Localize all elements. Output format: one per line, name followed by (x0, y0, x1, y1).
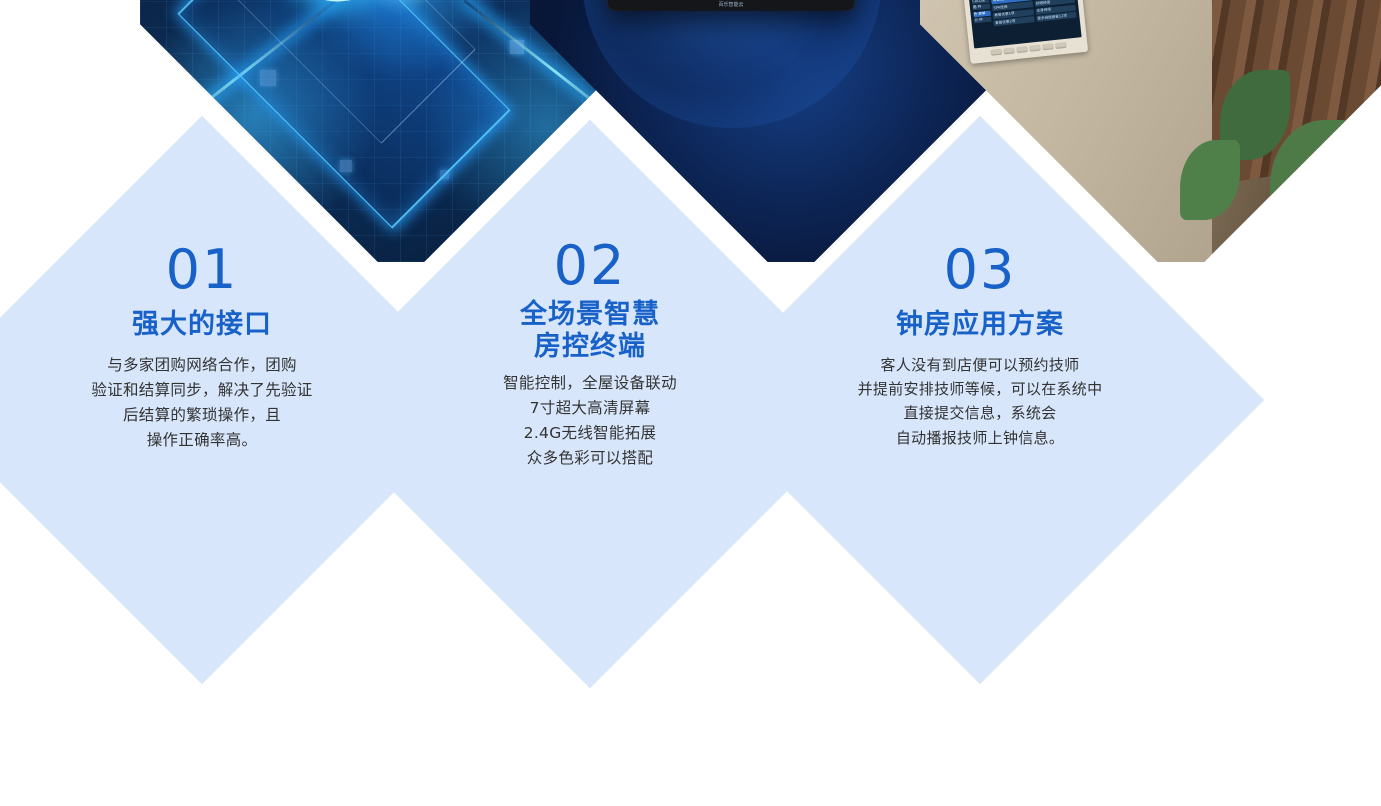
panel-button[interactable] (1055, 42, 1067, 49)
card-number: 03 (944, 243, 1017, 297)
side-label[interactable]: 点 钟 (974, 17, 991, 24)
chip-block (510, 40, 524, 54)
card-title: 强大的接口 (132, 309, 272, 341)
card-number: 01 (166, 243, 239, 297)
wall-panel-menu-column-2[interactable]: 汇加经络 理疗经络 舒眠经络 全身经络 更多经络套餐12项 (1033, 0, 1077, 22)
card-description: 与多家团购网络合作，团购 验证和结算同步，解决了先验证 后结算的繁琐操作，且 操… (91, 353, 312, 453)
wall-panel-menu-column-1[interactable]: 保健专案预约 保健经络 SPA经络 套餐优惠1项 套餐优惠2项 (990, 0, 1034, 26)
card-description: 客人没有到店便可以预约技师 并提前安排技师等候，可以在系统中 直接提交信息，系统… (858, 353, 1103, 450)
desc-line: 并提前安排技师等候，可以在系统中 (858, 377, 1103, 401)
desc-line: 后结算的繁琐操作，且 (91, 403, 312, 428)
room-control-terminal[interactable]: C5i28O 沙滩音乐 🔈 (608, 0, 854, 10)
wall-panel-body: 点 钟 CALL服 圈 钟 外 卖单 点 钟 保健专案预约 保健经络 SPA经络… (971, 0, 1076, 28)
desc-line: 客人没有到店便可以预约技师 (858, 353, 1103, 377)
desc-line: 验证和结算同步，解决了先验证 (91, 378, 312, 403)
infographic-stage: C5i28O 沙滩音乐 🔈 (0, 0, 1381, 603)
desc-line: 7寸超大高清屏幕 (503, 396, 677, 421)
device-footer-brand: 百乐智能云 (608, 1, 854, 8)
card-title: 全场景智慧 房控终端 (520, 299, 660, 363)
desc-line: 操作正确率高。 (91, 428, 312, 453)
desc-line: 与多家团购网络合作，团购 (91, 353, 312, 378)
card-title-line: 房控终端 (520, 331, 660, 363)
wall-panel-side-labels[interactable]: 点 钟 CALL服 圈 钟 外 卖单 点 钟 (971, 0, 992, 28)
panel-button[interactable] (990, 49, 1002, 56)
desc-line: 自动播报技师上钟信息。 (858, 426, 1103, 450)
desc-line: 2.4G无线智能拓展 (503, 421, 677, 446)
desc-line: 众多色彩可以搭配 (503, 446, 677, 471)
desc-line: 直接提交信息，系统会 (858, 401, 1103, 425)
card-title: 钟房应用方案 (896, 309, 1064, 341)
panel-button[interactable] (1042, 43, 1054, 50)
glow-ring (582, 0, 882, 128)
card-title-line: 强大的接口 (132, 309, 272, 341)
panel-button[interactable] (1016, 46, 1028, 53)
wall-panel-room-photo: 保健专案 SPA专案 舒缓专案 点 钟 CALL服 圈 钟 外 卖单 点 钟 (980, 0, 1381, 202)
panel-button[interactable] (1003, 47, 1015, 54)
feature-card-3[interactable]: 03 钟房应用方案 客人没有到店便可以预约技师 并提前安排技师等候，可以在系统中… (696, 116, 1265, 685)
card-title-line: 全场景智慧 (520, 299, 660, 331)
card-title-line: 钟房应用方案 (896, 309, 1064, 341)
card-number: 02 (554, 239, 627, 293)
desc-line: 智能控制，全屋设备联动 (503, 371, 677, 396)
panel-button[interactable] (1029, 45, 1041, 52)
card-description: 智能控制，全屋设备联动 7寸超大高清屏幕 2.4G无线智能拓展 众多色彩可以搭配 (503, 371, 677, 471)
